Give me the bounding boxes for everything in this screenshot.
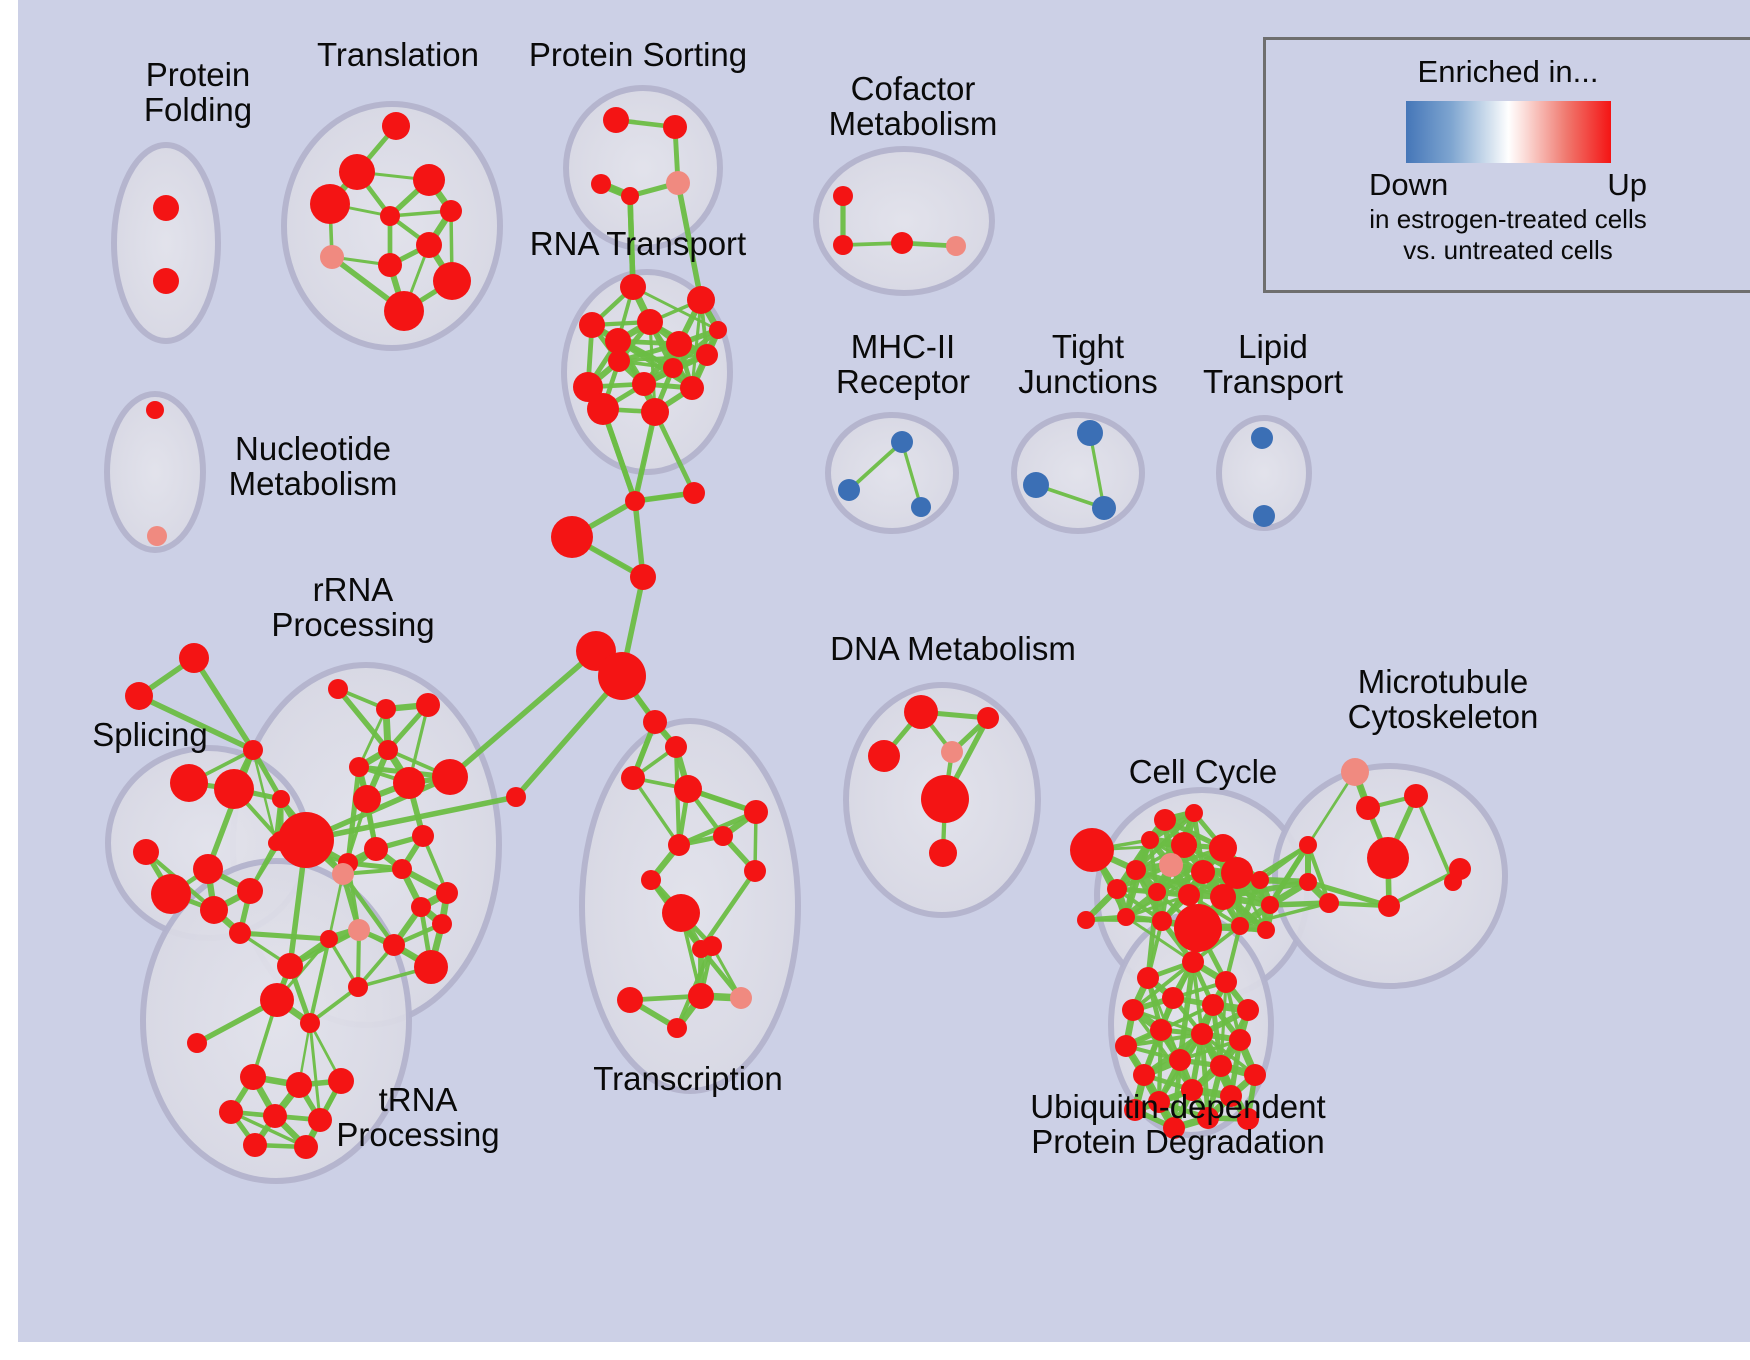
network-node[interactable]	[692, 940, 710, 958]
cluster-label-protein-sorting: Protein Sorting	[523, 38, 753, 73]
network-node[interactable]	[713, 826, 733, 846]
network-node[interactable]	[300, 1013, 320, 1033]
network-node[interactable]	[432, 759, 468, 795]
network-node[interactable]	[380, 206, 400, 226]
network-node[interactable]	[432, 914, 452, 934]
network-node[interactable]	[941, 741, 963, 763]
network-node[interactable]	[1148, 883, 1166, 901]
network-node[interactable]	[833, 235, 853, 255]
network-node[interactable]	[1023, 472, 1049, 498]
network-node[interactable]	[416, 693, 440, 717]
network-node[interactable]	[348, 977, 368, 997]
network-node[interactable]	[1182, 951, 1204, 973]
network-node[interactable]	[392, 859, 412, 879]
network-node[interactable]	[587, 393, 619, 425]
cluster-label-rrna-processing: rRNA Processing	[258, 573, 448, 643]
network-node[interactable]	[383, 934, 405, 956]
network-node[interactable]	[598, 652, 646, 700]
network-node[interactable]	[1367, 837, 1409, 879]
network-node[interactable]	[1378, 895, 1400, 917]
network-node[interactable]	[286, 1072, 312, 1098]
network-node[interactable]	[413, 164, 445, 196]
network-node[interactable]	[665, 736, 687, 758]
cluster-label-trna-processing: tRNA Processing	[323, 1083, 513, 1153]
network-node[interactable]	[696, 344, 718, 366]
cluster-label-translation: Translation	[303, 38, 493, 73]
network-node[interactable]	[608, 350, 630, 372]
legend-color-gradient	[1406, 101, 1611, 163]
network-node[interactable]	[625, 491, 645, 511]
network-node[interactable]	[630, 564, 656, 590]
network-node[interactable]	[1133, 1064, 1155, 1086]
network-node[interactable]	[378, 253, 402, 277]
network-node[interactable]	[838, 479, 860, 501]
network-node[interactable]	[632, 372, 656, 396]
legend-endpoints: Down Up	[1369, 167, 1647, 203]
network-node[interactable]	[911, 497, 931, 517]
network-node[interactable]	[353, 785, 381, 813]
network-node[interactable]	[709, 321, 727, 339]
network-node[interactable]	[294, 1135, 318, 1159]
legend-up-label: Up	[1607, 167, 1647, 203]
network-node[interactable]	[1154, 809, 1176, 831]
network-node[interactable]	[643, 710, 667, 734]
network-node[interactable]	[1221, 857, 1253, 889]
network-node[interactable]	[133, 839, 159, 865]
network-node[interactable]	[278, 812, 334, 868]
network-node[interactable]	[393, 767, 425, 799]
cluster-region-protein-sorting	[566, 88, 720, 248]
network-node[interactable]	[200, 896, 228, 924]
network-node[interactable]	[1077, 420, 1103, 446]
network-node[interactable]	[833, 186, 853, 206]
network-node[interactable]	[153, 268, 179, 294]
network-node[interactable]	[637, 309, 663, 335]
network-node[interactable]	[1319, 893, 1339, 913]
network-node[interactable]	[332, 863, 354, 885]
network-node[interactable]	[667, 1018, 687, 1038]
network-node[interactable]	[214, 769, 254, 809]
network-node[interactable]	[891, 232, 913, 254]
network-node[interactable]	[146, 401, 164, 419]
network-node[interactable]	[603, 107, 629, 133]
network-node[interactable]	[579, 312, 605, 338]
network-node[interactable]	[411, 897, 431, 917]
network-node[interactable]	[339, 154, 375, 190]
network-node[interactable]	[1150, 1019, 1172, 1041]
network-node[interactable]	[153, 195, 179, 221]
network-node[interactable]	[1115, 1035, 1137, 1057]
network-node[interactable]	[620, 274, 646, 300]
network-node[interactable]	[263, 1104, 287, 1128]
network-node[interactable]	[1404, 784, 1428, 808]
network-node[interactable]	[320, 245, 344, 269]
network-node[interactable]	[1070, 828, 1114, 872]
network-node[interactable]	[946, 236, 966, 256]
network-node[interactable]	[147, 526, 167, 546]
network-node[interactable]	[591, 174, 611, 194]
cluster-label-rna-transport: RNA Transport	[523, 227, 753, 262]
network-node[interactable]	[219, 1100, 243, 1124]
network-node[interactable]	[187, 1033, 207, 1053]
network-node[interactable]	[416, 232, 442, 258]
network-node[interactable]	[412, 825, 434, 847]
cluster-label-nucleotide-metabolism: Nucleotide Metabolism	[218, 432, 408, 502]
legend-subtitle-line1: in estrogen-treated cells	[1369, 205, 1646, 234]
cluster-region-mhc-ii-receptor	[828, 415, 956, 531]
network-node[interactable]	[1159, 853, 1183, 877]
network-node[interactable]	[662, 894, 700, 932]
network-node[interactable]	[277, 953, 303, 979]
figure-root: Protein FoldingTranslationProtein Sortin…	[0, 0, 1750, 1360]
network-node[interactable]	[1356, 796, 1380, 820]
network-canvas: Protein FoldingTranslationProtein Sortin…	[18, 0, 1750, 1342]
network-node[interactable]	[641, 870, 661, 890]
network-node[interactable]	[621, 766, 645, 790]
network-node[interactable]	[349, 757, 369, 777]
network-node[interactable]	[687, 286, 715, 314]
network-node[interactable]	[170, 764, 208, 802]
network-node[interactable]	[1185, 804, 1203, 822]
network-node[interactable]	[1077, 911, 1095, 929]
cluster-label-cell-cycle: Cell Cycle	[1123, 755, 1283, 790]
network-node[interactable]	[440, 200, 462, 222]
network-node[interactable]	[125, 682, 153, 710]
network-node[interactable]	[683, 482, 705, 504]
network-node[interactable]	[243, 1133, 267, 1157]
network-node[interactable]	[1117, 908, 1135, 926]
network-node[interactable]	[730, 987, 752, 1009]
network-node[interactable]	[506, 787, 526, 807]
network-node[interactable]	[1244, 1064, 1266, 1086]
cluster-label-tight-junctions: Tight Junctions	[1008, 330, 1168, 400]
network-node[interactable]	[551, 516, 593, 558]
network-node[interactable]	[1261, 896, 1279, 914]
network-node[interactable]	[1299, 873, 1317, 891]
network-node[interactable]	[744, 800, 768, 824]
network-node[interactable]	[666, 171, 690, 195]
network-node[interactable]	[891, 431, 913, 453]
network-node[interactable]	[1231, 917, 1249, 935]
network-node[interactable]	[1210, 884, 1236, 910]
network-node[interactable]	[1215, 971, 1237, 993]
cluster-label-transcription: Transcription	[583, 1062, 793, 1097]
network-node[interactable]	[1210, 1055, 1232, 1077]
edge	[516, 676, 622, 797]
network-node[interactable]	[272, 790, 290, 808]
network-node[interactable]	[921, 775, 969, 823]
network-node[interactable]	[1237, 999, 1259, 1021]
network-node[interactable]	[1251, 871, 1269, 889]
network-node[interactable]	[1174, 904, 1222, 952]
network-node[interactable]	[414, 950, 448, 984]
cluster-label-splicing: Splicing	[75, 718, 225, 753]
legend-title: Enriched in...	[1418, 54, 1599, 90]
network-node[interactable]	[663, 358, 683, 378]
network-node[interactable]	[240, 1064, 266, 1090]
network-node[interactable]	[1162, 987, 1184, 1009]
network-node[interactable]	[384, 291, 424, 331]
cluster-label-microtubule-cytoskeleton: Microtubule Cytoskeleton	[1328, 665, 1558, 735]
network-node[interactable]	[744, 860, 766, 882]
network-node[interactable]	[229, 922, 251, 944]
network-node[interactable]	[617, 987, 643, 1013]
network-node[interactable]	[433, 262, 471, 300]
network-node[interactable]	[378, 740, 398, 760]
network-node[interactable]	[1122, 999, 1144, 1021]
network-node[interactable]	[868, 740, 900, 772]
network-node[interactable]	[243, 740, 263, 760]
network-node[interactable]	[688, 983, 714, 1009]
legend-down-label: Down	[1369, 167, 1448, 203]
network-node[interactable]	[1253, 505, 1275, 527]
legend-subtitle-line2: vs. untreated cells	[1403, 236, 1613, 265]
cluster-label-lipid-transport: Lipid Transport	[1193, 330, 1353, 400]
cluster-label-ubiquitin-protein-degradation: Ubiquitin-dependent Protein Degradation	[1013, 1090, 1343, 1160]
network-node[interactable]	[1299, 836, 1317, 854]
network-node[interactable]	[193, 854, 223, 884]
network-node[interactable]	[641, 398, 669, 426]
network-node[interactable]	[674, 775, 702, 803]
network-node[interactable]	[376, 699, 396, 719]
network-node[interactable]	[929, 839, 957, 867]
network-node[interactable]	[1257, 921, 1275, 939]
network-node[interactable]	[310, 184, 350, 224]
network-node[interactable]	[364, 837, 388, 861]
network-node[interactable]	[1251, 427, 1273, 449]
network-node[interactable]	[348, 919, 370, 941]
cluster-label-dna-metabolism: DNA Metabolism	[828, 632, 1078, 667]
network-node[interactable]	[1092, 496, 1116, 520]
legend-panel: Enriched in... Down Up in estrogen-treat…	[1263, 37, 1750, 293]
network-node[interactable]	[1191, 1023, 1213, 1045]
network-node[interactable]	[1444, 873, 1462, 891]
network-node[interactable]	[179, 643, 209, 673]
network-node[interactable]	[977, 707, 999, 729]
network-node[interactable]	[151, 874, 191, 914]
network-node[interactable]	[1152, 911, 1172, 931]
network-node[interactable]	[1191, 860, 1215, 884]
network-node[interactable]	[1137, 967, 1159, 989]
network-node[interactable]	[668, 834, 690, 856]
cluster-label-mhc-ii-receptor: MHC-II Receptor	[823, 330, 983, 400]
network-node[interactable]	[1169, 1049, 1191, 1071]
network-node[interactable]	[1107, 879, 1127, 899]
network-node[interactable]	[663, 115, 687, 139]
network-node[interactable]	[320, 930, 338, 948]
cluster-label-cofactor-metabolism: Cofactor Metabolism	[818, 72, 1008, 142]
cluster-region-protein-folding	[114, 145, 218, 341]
network-node[interactable]	[1126, 860, 1146, 880]
network-node[interactable]	[237, 878, 263, 904]
network-node[interactable]	[436, 882, 458, 904]
cluster-label-protein-folding: Protein Folding	[103, 58, 293, 128]
network-node[interactable]	[621, 187, 639, 205]
network-node[interactable]	[1341, 758, 1369, 786]
network-node[interactable]	[1229, 1029, 1251, 1051]
edge	[450, 651, 596, 777]
network-node[interactable]	[260, 983, 294, 1017]
network-node[interactable]	[1202, 994, 1224, 1016]
network-node[interactable]	[680, 376, 704, 400]
network-node[interactable]	[904, 695, 938, 729]
network-node[interactable]	[1178, 884, 1200, 906]
network-node[interactable]	[1141, 831, 1159, 849]
network-node[interactable]	[666, 331, 692, 357]
network-node[interactable]	[328, 679, 348, 699]
network-node[interactable]	[382, 112, 410, 140]
